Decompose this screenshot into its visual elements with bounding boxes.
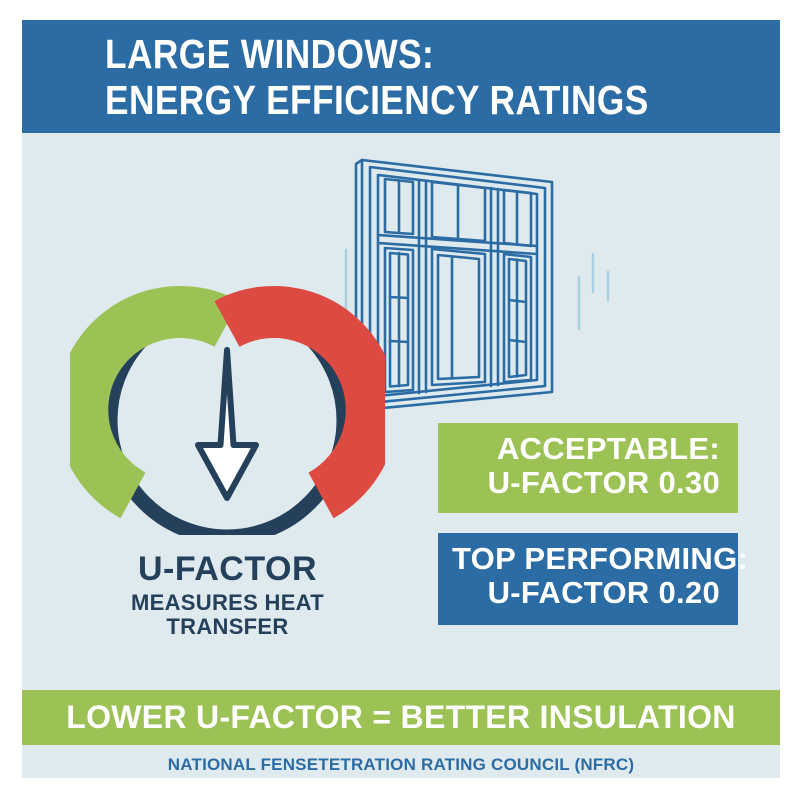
callout-top-performing: TOP PERFORMING: U-FACTOR 0.20 xyxy=(438,533,738,625)
page-title-line-1: LARGE WINDOWS: xyxy=(105,31,621,77)
gauge-dial-icon xyxy=(70,265,385,535)
callout-top-performing-value: U-FACTOR 0.20 xyxy=(452,576,720,610)
page-title: LARGE WINDOWS: ENERGY EFFICIENCY RATINGS xyxy=(105,31,621,123)
callout-acceptable-title: ACCEPTABLE: xyxy=(452,432,720,466)
gauge-sublabel: MEASURES HEAT TRANSFER xyxy=(70,591,385,639)
footer-credit: NATIONAL FENSETETRATION RATING COUNCIL (… xyxy=(22,755,780,775)
gauge-block: U-FACTOR MEASURES HEAT TRANSFER xyxy=(70,265,385,645)
callout-acceptable: ACCEPTABLE: U-FACTOR 0.30 xyxy=(438,423,738,513)
callout-acceptable-value: U-FACTOR 0.30 xyxy=(452,466,720,500)
infographic-canvas: LARGE WINDOWS: ENERGY EFFICIENCY RATINGS xyxy=(22,20,780,778)
footer-tagline-bar: LOWER U-FACTOR = BETTER INSULATION xyxy=(22,690,780,745)
callout-top-performing-title: TOP PERFORMING: xyxy=(452,542,720,576)
gauge-green-zone xyxy=(82,312,227,495)
gauge-dial xyxy=(70,265,385,535)
gauge-red-zone xyxy=(227,312,372,495)
footer-tagline: LOWER U-FACTOR = BETTER INSULATION xyxy=(22,699,780,735)
gauge-needle-down-arrow xyxy=(198,350,256,498)
gauge-label: U-FACTOR xyxy=(70,551,385,587)
page-title-line-2: ENERGY EFFICIENCY RATINGS xyxy=(105,77,621,123)
header-banner: LARGE WINDOWS: ENERGY EFFICIENCY RATINGS xyxy=(22,20,780,133)
